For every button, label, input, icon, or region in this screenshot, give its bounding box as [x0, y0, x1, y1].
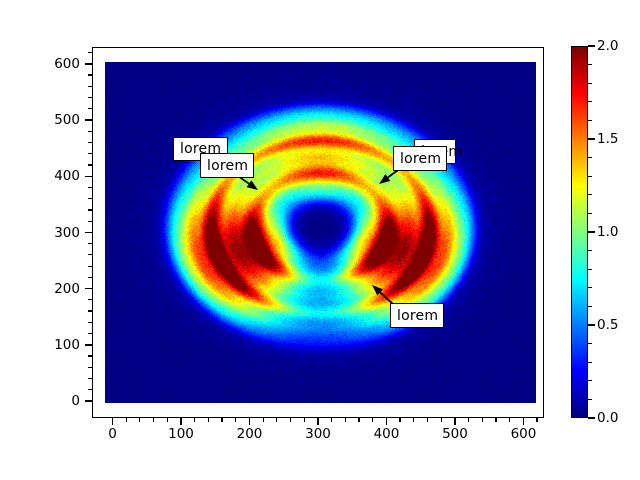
y-tick-label: 0	[0, 393, 80, 409]
colorbar-tick-major	[588, 231, 595, 232]
colorbar-tick-minor	[588, 380, 592, 381]
x-tick-minor	[427, 418, 428, 422]
x-tick-major	[112, 418, 113, 425]
colorbar-tick-minor	[588, 306, 592, 307]
x-tick-minor	[290, 418, 291, 422]
x-tick-minor	[372, 418, 373, 422]
colorbar-tick-label: 1.0	[597, 224, 618, 240]
x-tick-minor	[221, 418, 222, 422]
y-tick-minor	[88, 266, 92, 267]
y-tick-minor	[88, 333, 92, 334]
y-tick-major	[85, 63, 92, 64]
colorbar-tick-major	[588, 324, 595, 325]
x-tick-minor	[345, 418, 346, 422]
x-tick-minor	[358, 418, 359, 422]
x-tick-label: 200	[237, 426, 263, 442]
colorbar-tick-minor	[588, 157, 592, 158]
colorbar-tick-minor	[588, 64, 592, 65]
colorbar-tick-minor	[588, 250, 592, 251]
x-tick-minor	[276, 418, 277, 422]
x-tick-major	[249, 418, 250, 425]
x-tick-minor	[167, 418, 168, 422]
x-tick-minor	[304, 418, 305, 422]
x-tick-major	[317, 418, 318, 425]
y-tick-minor	[88, 378, 92, 379]
x-tick-minor	[153, 418, 154, 422]
y-tick-minor	[88, 243, 92, 244]
y-tick-label: 400	[0, 168, 80, 184]
x-tick-major	[386, 418, 387, 425]
colorbar-tick-label: 0.5	[597, 317, 618, 333]
y-tick-major	[85, 344, 92, 345]
y-tick-minor	[88, 86, 92, 87]
x-tick-minor	[235, 418, 236, 422]
y-tick-minor	[88, 108, 92, 109]
y-tick-major	[85, 288, 92, 289]
y-tick-minor	[88, 142, 92, 143]
colorbar-tick-minor	[588, 83, 592, 84]
x-tick-minor	[482, 418, 483, 422]
x-tick-minor	[441, 418, 442, 422]
x-tick-minor	[509, 418, 510, 422]
y-tick-minor	[88, 198, 92, 199]
x-tick-label: 500	[442, 426, 468, 442]
x-tick-minor	[536, 418, 537, 422]
y-tick-label: 200	[0, 281, 80, 297]
y-tick-label: 100	[0, 337, 80, 353]
colorbar-tick-minor	[588, 362, 592, 363]
y-tick-major	[85, 176, 92, 177]
y-tick-minor	[88, 74, 92, 75]
y-tick-minor	[88, 299, 92, 300]
x-tick-major	[454, 418, 455, 425]
y-tick-major	[85, 400, 92, 401]
x-tick-minor	[399, 418, 400, 422]
y-tick-minor	[88, 52, 92, 53]
x-tick-label: 300	[305, 426, 331, 442]
x-tick-minor	[263, 418, 264, 422]
y-tick-label: 300	[0, 225, 80, 241]
annotation-label[interactable]: lorem	[390, 303, 444, 328]
y-tick-minor	[88, 164, 92, 165]
colorbar-tick-major	[588, 45, 595, 46]
annotation-label[interactable]: lorem	[393, 146, 447, 171]
y-tick-minor	[88, 153, 92, 154]
x-tick-minor	[208, 418, 209, 422]
colorbar-tick-label: 2.0	[597, 38, 618, 54]
colorbar-tick-minor	[588, 399, 592, 400]
x-tick-minor	[126, 418, 127, 422]
y-tick-minor	[88, 209, 92, 210]
figure-canvas: 0100200300400500600 0100200300400500600 …	[0, 0, 640, 480]
colorbar-tick-minor	[588, 343, 592, 344]
y-tick-minor	[88, 367, 92, 368]
y-tick-minor	[88, 277, 92, 278]
x-tick-major	[180, 418, 181, 425]
y-tick-major	[85, 232, 92, 233]
colorbar	[571, 46, 588, 418]
y-tick-major	[85, 119, 92, 120]
colorbar-tick-label: 1.5	[597, 131, 618, 147]
x-tick-label: 600	[511, 426, 537, 442]
x-tick-label: 400	[374, 426, 400, 442]
colorbar-tick-minor	[588, 101, 592, 102]
y-tick-minor	[88, 389, 92, 390]
colorbar-tick-minor	[588, 269, 592, 270]
x-tick-major	[523, 418, 524, 425]
x-tick-minor	[331, 418, 332, 422]
colorbar-tick-minor	[588, 213, 592, 214]
x-tick-minor	[139, 418, 140, 422]
x-tick-minor	[495, 418, 496, 422]
x-tick-label: 100	[168, 426, 194, 442]
y-tick-minor	[88, 322, 92, 323]
y-tick-label: 500	[0, 112, 80, 128]
heatmap-image	[105, 62, 536, 403]
y-tick-label: 600	[0, 56, 80, 72]
colorbar-tick-minor	[588, 120, 592, 121]
y-tick-minor	[88, 355, 92, 356]
colorbar-tick-major	[588, 138, 595, 139]
x-tick-minor	[413, 418, 414, 422]
colorbar-gradient	[572, 47, 587, 417]
x-tick-minor	[468, 418, 469, 422]
annotation-label[interactable]: lorem	[200, 153, 254, 178]
x-tick-minor	[194, 418, 195, 422]
colorbar-tick-minor	[588, 287, 592, 288]
colorbar-tick-major	[588, 417, 595, 418]
y-tick-minor	[88, 310, 92, 311]
y-tick-minor	[88, 131, 92, 132]
y-tick-minor	[88, 97, 92, 98]
colorbar-tick-label: 0.0	[597, 410, 618, 426]
colorbar-tick-minor	[588, 194, 592, 195]
y-tick-minor	[88, 254, 92, 255]
colorbar-tick-minor	[588, 176, 592, 177]
y-tick-minor	[88, 221, 92, 222]
y-tick-minor	[88, 187, 92, 188]
x-tick-label: 0	[108, 426, 117, 442]
